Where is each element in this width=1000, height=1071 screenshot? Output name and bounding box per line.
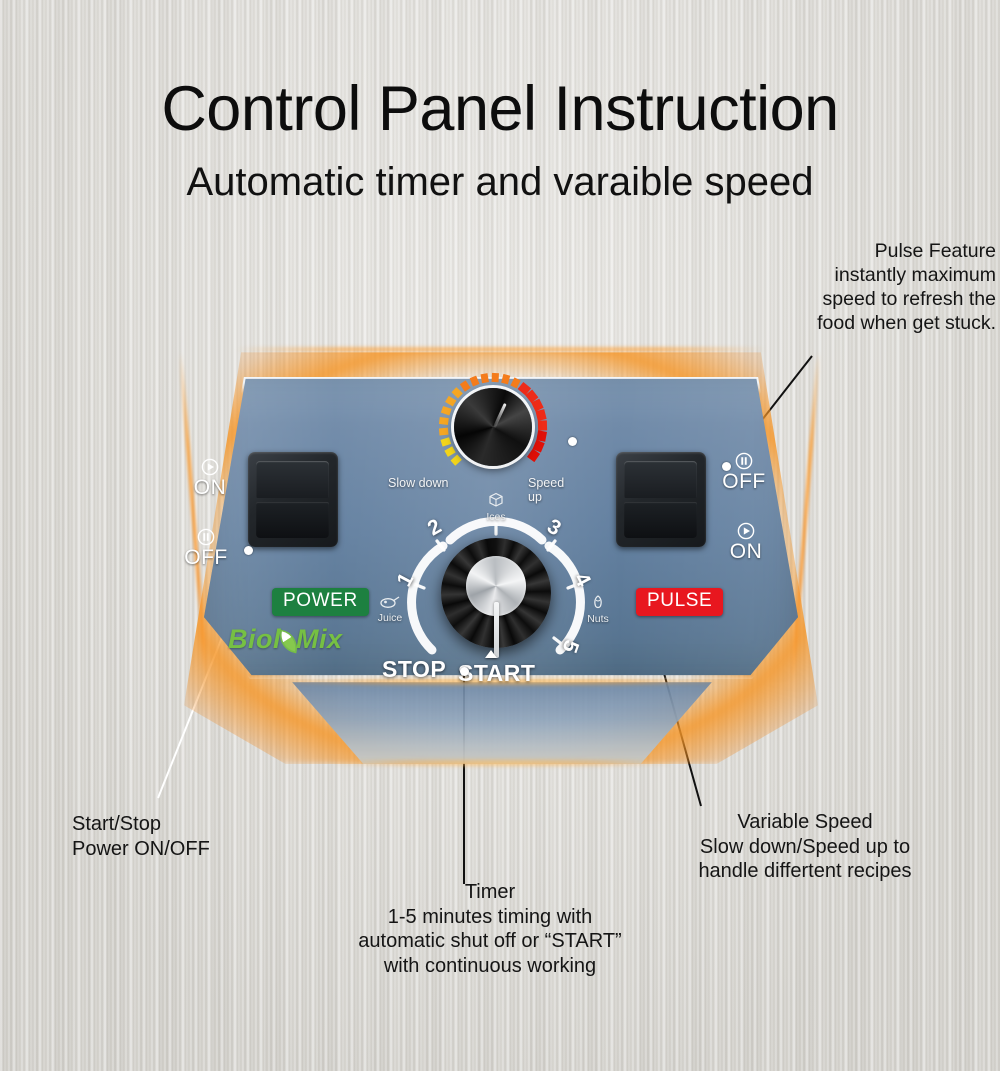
callout-speed-line-0: Slow down/Speed up to — [700, 836, 910, 858]
appliance-base — [292, 682, 712, 764]
power-callout-dot — [244, 546, 253, 555]
panel-glow-top — [236, 348, 766, 351]
callout-timer-heading: Timer — [300, 880, 680, 905]
timer-preset-ices-label: Ices — [486, 511, 505, 523]
speed-knob[interactable] — [454, 388, 532, 466]
timer-stop-label: STOP — [382, 656, 446, 683]
brand-logo: BiolMix — [228, 626, 343, 653]
callout-pulse-line-0: Pulse Feature — [875, 240, 996, 262]
pulse-rocker-top[interactable] — [624, 461, 697, 498]
timer-dial[interactable]: 1 2 3 4 5 Juice Ices Nuts STOP — [388, 510, 604, 685]
pulse-rocker-switch[interactable] — [616, 452, 706, 547]
pulse-off-text: OFF — [716, 471, 772, 492]
pulse-off-label: OFF — [716, 452, 772, 492]
callout-power-line-1: Power ON/OFF — [72, 838, 210, 860]
timer-preset-nuts-label: Nuts — [587, 613, 609, 625]
pulse-on-label: ON — [718, 522, 774, 562]
callout-power: Start/Stop Power ON/OFF — [72, 812, 210, 861]
page-title: Control Panel Instruction — [0, 78, 1000, 141]
callout-timer-line-1: automatic shut off or “START” — [358, 930, 621, 952]
power-rocker-top[interactable] — [256, 461, 329, 498]
timer-start-arrow-icon — [485, 650, 497, 658]
callout-speed-heading: Variable Speed — [650, 810, 960, 835]
callout-pulse-line-1: instantly maximum — [835, 264, 996, 286]
power-rocker-bottom[interactable] — [256, 502, 329, 538]
juice-icon — [370, 594, 410, 612]
speed-callout-dot — [568, 437, 577, 446]
pulse-callout-dot — [722, 462, 731, 471]
speed-dial[interactable]: Slow down Speed up — [418, 366, 570, 486]
speed-slow-label: Slow down — [388, 476, 448, 490]
callout-pulse-line-3: food when get stuck. — [817, 312, 996, 334]
play-icon — [182, 458, 238, 476]
callout-variable-speed: Variable Speed Slow down/Speed up to han… — [650, 810, 960, 884]
brand-part1: Biol — [228, 624, 281, 654]
pulse-rocker-bottom[interactable] — [624, 502, 697, 538]
power-on-text: ON — [182, 477, 238, 498]
timer-preset-juice: Juice — [370, 594, 410, 624]
ice-cube-icon — [476, 492, 516, 511]
timer-preset-ices: Ices — [476, 492, 516, 523]
nut-icon — [578, 594, 618, 613]
power-off-label: OFF — [178, 528, 234, 568]
timer-callout-dot — [460, 667, 469, 676]
callout-timer: Timer 1-5 minutes timing with automatic … — [300, 880, 680, 978]
page-subtitle: Automatic timer and varaible speed — [0, 162, 1000, 202]
brand-part2: Mix — [296, 624, 343, 654]
panel-glow-left — [179, 352, 208, 681]
speed-knob-pointer — [492, 403, 507, 430]
power-on-label: ON — [182, 458, 238, 498]
control-panel: ON OFF POWER BiolMix OFF ON PULSE — [176, 330, 826, 780]
callout-power-line-0: Start/Stop — [72, 813, 161, 835]
timer-start-label: START — [458, 660, 535, 687]
pulse-on-text: ON — [718, 541, 774, 562]
power-rocker-switch[interactable] — [248, 452, 338, 547]
callout-timer-line-0: 1-5 minutes timing with — [388, 906, 593, 928]
base-glow-bottom — [334, 760, 670, 766]
callout-pulse: Pulse Feature instantly maximum speed to… — [696, 240, 996, 336]
timer-preset-juice-label: Juice — [378, 612, 403, 624]
pause-icon — [178, 528, 234, 546]
callout-pulse-line-2: speed to refresh the — [823, 288, 996, 310]
power-badge: POWER — [272, 588, 369, 616]
speed-fast-label: Speed up — [528, 476, 570, 504]
power-off-text: OFF — [178, 547, 234, 568]
callout-timer-line-2: with continuous working — [384, 955, 596, 977]
callout-speed-line-1: handle differtent recipes — [698, 860, 911, 882]
timer-preset-nuts: Nuts — [578, 594, 618, 625]
play-icon — [718, 522, 774, 540]
pulse-badge: PULSE — [636, 588, 723, 616]
